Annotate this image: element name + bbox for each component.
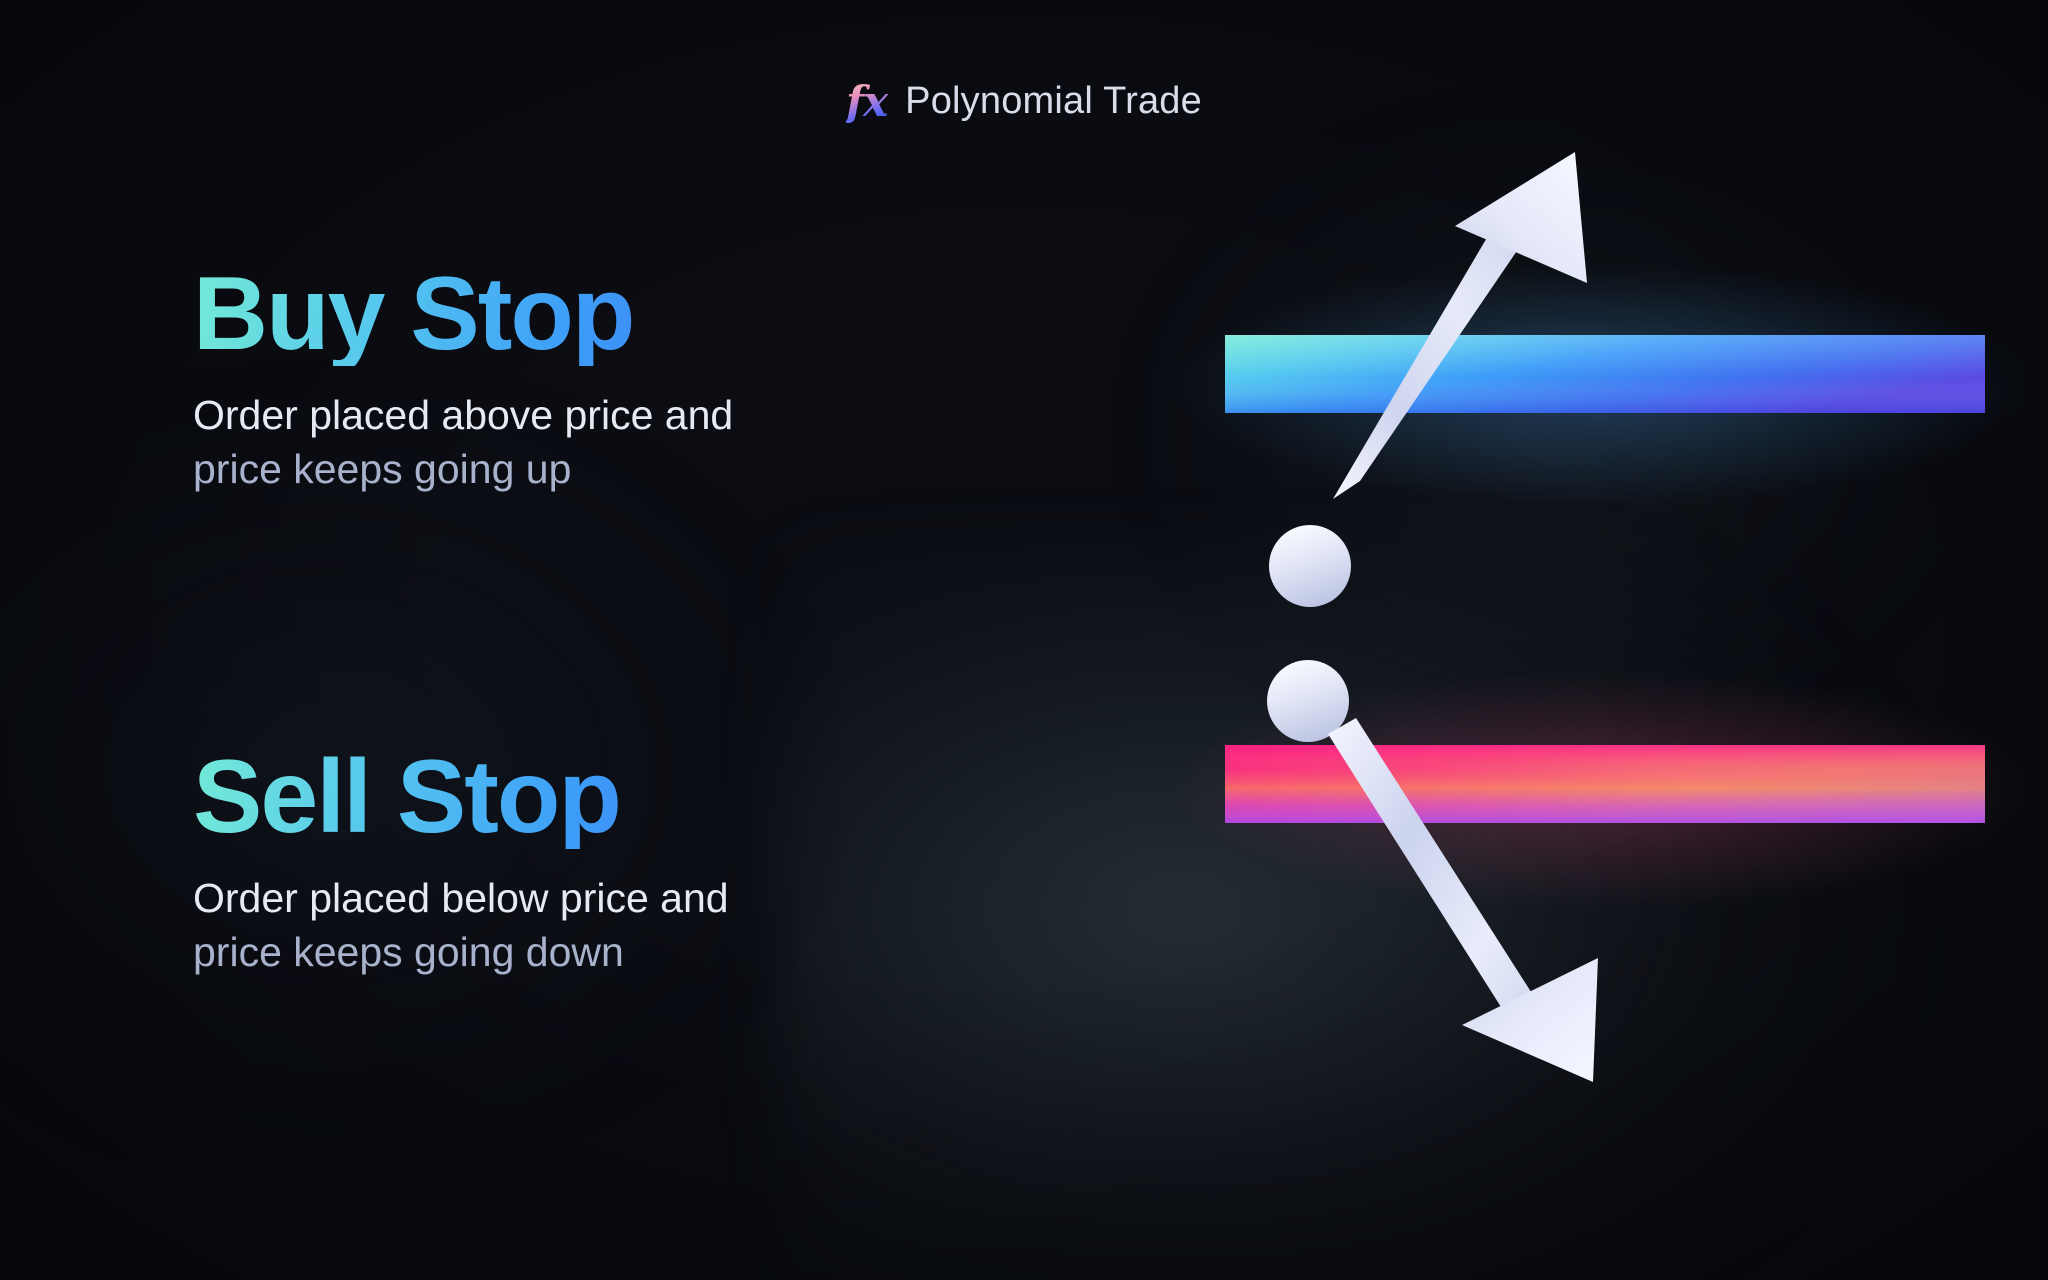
price-dot-icon xyxy=(1269,525,1351,607)
sell-stop-description-line-1: Order placed below price and xyxy=(193,871,953,925)
brand-name: Polynomial Trade xyxy=(905,80,1202,123)
sell-stop-description-line-2: price keeps going down xyxy=(193,925,953,979)
sell-stop-description: Order placed below price and price keeps… xyxy=(193,871,953,979)
brand-lockup: fx Polynomial Trade xyxy=(846,80,1202,123)
buy-stop-description-line-2: price keeps going up xyxy=(193,442,953,496)
sell-stop-diagram xyxy=(1170,660,2030,1082)
buy-stop-copy-block: Buy Stop Order placed above price and pr… xyxy=(193,262,953,496)
order-type-diagram xyxy=(1150,140,1940,1100)
sell-stop-price-level-bar xyxy=(1225,745,1985,823)
sell-stop-copy-block: Sell Stop Order placed below price and p… xyxy=(193,745,953,979)
fx-logo-icon: fx xyxy=(846,81,889,123)
buy-stop-headline: Buy Stop xyxy=(193,262,953,366)
sell-stop-headline: Sell Stop xyxy=(193,745,953,849)
buy-stop-description-line-1: Order placed above price and xyxy=(193,388,953,442)
buy-stop-diagram xyxy=(1170,152,2030,607)
poster-canvas: fx Polynomial Trade Buy Stop Order place… xyxy=(0,0,2048,1280)
buy-stop-description: Order placed above price and price keeps… xyxy=(193,388,953,496)
buy-stop-price-level-bar xyxy=(1225,335,1985,413)
